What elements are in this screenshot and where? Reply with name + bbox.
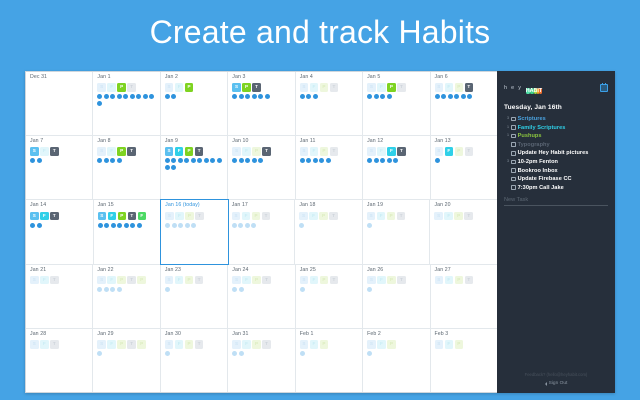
habit-badge-p[interactable]: P xyxy=(252,276,261,285)
calendar-day-cell[interactable]: Jan 31SFPT xyxy=(228,329,295,392)
calendar-week-row: Dec 31Jan 1SFPTJan 2SFPJan 3SPTJan 4SFPT… xyxy=(26,72,497,136)
task-dot xyxy=(110,158,115,163)
habit-badge-t[interactable]: T xyxy=(195,340,204,349)
task-label: 10-2pm Fenton xyxy=(518,159,558,165)
habit-badge-s[interactable]: S xyxy=(30,147,39,156)
habit-badge-s[interactable]: S xyxy=(367,212,376,221)
calendar-day-cell[interactable]: Jan 6SFPT xyxy=(431,72,497,135)
calendar-day-cell[interactable]: Jan 14SFT xyxy=(26,200,94,263)
habit-badge-p[interactable]: P xyxy=(252,147,261,156)
task-dot xyxy=(123,94,128,99)
task-row[interactable]: Typography xyxy=(504,142,608,148)
calendar-day-cell[interactable]: Feb 1SFP xyxy=(296,329,363,392)
habit-badge-s[interactable]: S xyxy=(165,212,174,221)
habit-badge-group: SFPT xyxy=(367,83,425,92)
task-dot xyxy=(374,158,379,163)
task-checkbox[interactable] xyxy=(511,134,516,139)
habit-badge-f[interactable]: F xyxy=(107,83,116,92)
calendar-day-cell[interactable]: Jan 1SFPT xyxy=(93,72,160,135)
task-row[interactable]: 1Pushups xyxy=(504,133,608,139)
calendar-day-cell[interactable]: Jan 17SFPT xyxy=(228,200,296,263)
sidebar-date-heading: Tuesday, Jan 16th xyxy=(504,104,608,111)
habit-badge-f[interactable]: F xyxy=(242,212,251,221)
task-dot xyxy=(374,94,379,99)
habit-badge-t[interactable]: T xyxy=(128,212,137,221)
habit-badge-t[interactable]: T xyxy=(252,83,261,92)
calendar-day-label: Jan 22 xyxy=(97,268,155,273)
habit-badge-t[interactable]: T xyxy=(329,212,338,221)
habit-badge-t[interactable]: T xyxy=(465,83,474,92)
calendar-day-cell[interactable]: Jan 16 (today)SFPT xyxy=(160,199,229,264)
task-label: Pushups xyxy=(518,133,542,139)
task-checkbox[interactable] xyxy=(511,151,516,156)
habit-badge-p[interactable]: P xyxy=(319,212,328,221)
habit-badge-group: SFPT xyxy=(300,276,358,285)
habit-badge-t[interactable]: T xyxy=(465,276,474,285)
task-dot xyxy=(171,165,176,170)
habit-badge-t[interactable]: T xyxy=(262,276,271,285)
habit-badge-s[interactable]: S xyxy=(97,147,106,156)
habit-badge-group: SFP xyxy=(165,83,223,92)
task-row[interactable]: 7:30pm Call Jake xyxy=(504,185,608,191)
habit-badge-p[interactable]: P xyxy=(185,83,194,92)
habit-badge-group: SFPTP xyxy=(97,276,155,285)
habit-badge-p[interactable]: P xyxy=(320,147,329,156)
habit-badge-f[interactable]: F xyxy=(445,340,454,349)
calendar-day-label: Dec 31 xyxy=(30,75,88,80)
task-dot xyxy=(124,223,129,228)
habit-badge-p[interactable]: P xyxy=(387,212,396,221)
habit-badge-f[interactable]: F xyxy=(175,340,184,349)
habit-badge-p[interactable]: P xyxy=(455,340,464,349)
habit-badge-f[interactable]: F xyxy=(175,147,184,156)
calendar-day-label: Jan 14 xyxy=(30,203,89,208)
sign-out-icon xyxy=(545,382,547,386)
calendar-day-label: Jan 19 xyxy=(367,203,426,208)
calendar-day-cell[interactable]: Jan 22SFPTP xyxy=(93,265,160,328)
habit-badge-p[interactable]: P xyxy=(252,340,261,349)
habit-badge-group: SFPT xyxy=(165,340,223,349)
habit-badge-s[interactable]: S xyxy=(232,147,241,156)
task-dot-group xyxy=(232,223,291,228)
habit-badge-s[interactable]: S xyxy=(98,212,107,221)
calendar-week-row: Jan 14SFTJan 15SFPTFJan 16 (today)SFPTJa… xyxy=(26,200,497,264)
calendar-day-cell[interactable]: Jan 25SFPT xyxy=(296,265,363,328)
habit-badge-t[interactable]: T xyxy=(262,147,271,156)
habit-badge-t[interactable]: T xyxy=(330,276,339,285)
calendar-day-cell[interactable]: Jan 26SFPT xyxy=(363,265,430,328)
calendar-day-label: Jan 12 xyxy=(367,139,425,144)
habit-calendar[interactable]: Dec 31Jan 1SFPTJan 2SFPJan 3SPTJan 4SFPT… xyxy=(25,71,497,393)
task-dot-group xyxy=(165,223,224,228)
habit-badge-f[interactable]: F xyxy=(40,340,49,349)
calendar-day-cell[interactable]: Jan 5SFPT xyxy=(363,72,430,135)
task-dot xyxy=(149,94,154,99)
habit-badge-t[interactable]: T xyxy=(50,340,59,349)
habit-badge-s[interactable]: S xyxy=(97,83,106,92)
habit-badge-t[interactable]: T xyxy=(465,147,474,156)
habit-badge-s[interactable]: S xyxy=(367,276,376,285)
calendar-day-cell[interactable]: Jan 18SFPT xyxy=(295,200,363,263)
calendar-day-cell[interactable]: Jan 2SFP xyxy=(161,72,228,135)
habit-badge-t[interactable]: T xyxy=(397,212,406,221)
task-dot xyxy=(197,158,202,163)
page-title: Create and track Habits xyxy=(0,0,640,48)
calendar-day-cell[interactable]: Jan 30SFPT xyxy=(161,329,228,392)
task-checkbox[interactable] xyxy=(511,177,516,182)
calendar-day-cell[interactable]: Jan 12SFFT xyxy=(363,136,430,199)
habit-badge-p[interactable]: P xyxy=(118,212,127,221)
habit-badge-group: SFFT xyxy=(367,147,425,156)
calendar-day-label: Feb 2 xyxy=(367,332,425,337)
habit-badge-t[interactable]: T xyxy=(330,83,339,92)
calendar-day-cell[interactable]: Jan 21SFT xyxy=(26,265,93,328)
habit-badge-p[interactable]: P xyxy=(117,147,126,156)
habit-badge-group: SFT xyxy=(30,276,88,285)
calendar-day-label: Jan 31 xyxy=(232,332,290,337)
sign-out-button[interactable]: Sign Out xyxy=(497,381,615,386)
habit-badge-t[interactable]: T xyxy=(397,147,406,156)
task-list: 3Scriptures1Family Scriptures1PushupsTyp… xyxy=(504,116,608,191)
habit-badge-group: SFT xyxy=(30,212,89,221)
habit-badge-p[interactable]: P xyxy=(185,276,194,285)
task-streak-count: 1 xyxy=(504,126,509,130)
habit-badge-f[interactable]: F xyxy=(377,212,386,221)
habit-badge-group: SFPT xyxy=(97,83,155,92)
habit-badge-group: SFPTP xyxy=(97,340,155,349)
calendar-day-cell[interactable]: Jan 7SFT xyxy=(26,136,93,199)
task-dot xyxy=(380,94,385,99)
task-label: Bookroo Inbox xyxy=(518,168,558,174)
habit-badge-f[interactable]: F xyxy=(377,147,386,156)
habit-badge-f[interactable]: F xyxy=(377,340,386,349)
habit-badge-f[interactable]: F xyxy=(445,83,454,92)
habit-badge-p[interactable]: P xyxy=(185,212,194,221)
habit-badge-s[interactable]: S xyxy=(97,340,106,349)
task-dot-group xyxy=(97,351,155,356)
calendar-day-cell[interactable]: Jan 27SFPT xyxy=(431,265,497,328)
habit-badge-s[interactable]: S xyxy=(97,276,106,285)
habit-badge-t[interactable]: T xyxy=(127,147,136,156)
calendar-day-cell[interactable]: Dec 31 xyxy=(26,72,93,135)
habit-badge-group: SFPT xyxy=(165,276,223,285)
habit-badge-f[interactable]: F xyxy=(108,212,117,221)
habit-badge-f[interactable]: F xyxy=(107,340,116,349)
habit-badge-p[interactable]: P xyxy=(242,83,251,92)
habit-badge-s[interactable]: S xyxy=(232,83,241,92)
habit-badge-t[interactable]: T xyxy=(50,147,59,156)
task-dot xyxy=(117,94,122,99)
calendar-week-row: Jan 21SFTJan 22SFPTPJan 23SFPTJan 24SFPT… xyxy=(26,265,497,329)
habit-badge-f[interactable]: F xyxy=(377,83,386,92)
habit-badge-s[interactable]: S xyxy=(300,147,309,156)
calendar-day-label: Jan 8 xyxy=(97,139,155,144)
feedback-link[interactable]: Feedback? (hello@heyhabit.com) xyxy=(497,372,615,377)
habit-badge-t[interactable]: T xyxy=(50,212,59,221)
habit-badge-f[interactable]: F xyxy=(310,276,319,285)
task-dot xyxy=(165,287,170,292)
task-dot-group xyxy=(367,223,426,228)
calendar-day-label: Jan 1 xyxy=(97,75,155,80)
calendar-day-cell[interactable]: Feb 2SFP xyxy=(363,329,430,392)
task-row[interactable]: 3Scriptures xyxy=(504,116,608,122)
calendar-day-label: Feb 1 xyxy=(300,332,358,337)
habit-badge-t[interactable]: T xyxy=(50,276,59,285)
task-checkbox[interactable] xyxy=(511,142,516,147)
calendar-day-cell[interactable]: Jan 20SFPT xyxy=(430,200,497,263)
habit-badge-f[interactable]: F xyxy=(445,276,454,285)
app-logo: h e y HABIT xyxy=(504,79,542,97)
habit-badge-f[interactable]: F xyxy=(175,276,184,285)
task-dot-group xyxy=(435,158,493,163)
habit-badge-f[interactable]: F xyxy=(40,212,49,221)
task-dot xyxy=(367,287,372,292)
habit-badge-s[interactable]: S xyxy=(165,276,174,285)
task-dot xyxy=(143,94,148,99)
task-streak-count: 3 xyxy=(504,117,509,121)
task-checkbox[interactable] xyxy=(511,125,516,130)
task-dot xyxy=(387,158,392,163)
habit-badge-p[interactable]: P xyxy=(137,340,146,349)
task-dot xyxy=(300,158,305,163)
calendar-day-label: Jan 17 xyxy=(232,203,291,208)
habit-badge-f[interactable]: F xyxy=(107,147,116,156)
habit-badge-t[interactable]: T xyxy=(464,212,473,221)
task-dot xyxy=(104,94,109,99)
habit-badge-t[interactable]: T xyxy=(195,212,204,221)
calendar-day-label: Jan 3 xyxy=(232,75,290,80)
habit-badge-s[interactable]: S xyxy=(165,83,174,92)
task-dot xyxy=(110,94,115,99)
calendar-day-cell[interactable]: Jan 13SFPT xyxy=(431,136,497,199)
habit-badge-f[interactable]: F xyxy=(310,340,319,349)
habit-badge-p[interactable]: P xyxy=(185,147,194,156)
calendar-day-cell[interactable]: Jan 4SFPT xyxy=(296,72,363,135)
calendar-day-cell[interactable]: Jan 19SFPT xyxy=(363,200,431,263)
habit-badge-group: SFPT xyxy=(165,212,224,221)
task-dot xyxy=(367,158,372,163)
habit-badge-t[interactable]: T xyxy=(262,212,271,221)
habit-badge-f[interactable]: F xyxy=(444,212,453,221)
task-dot xyxy=(245,223,250,228)
page-root: Create and track Habits Dec 31Jan 1SFPTJ… xyxy=(0,0,640,400)
habit-badge-p[interactable]: P xyxy=(387,276,396,285)
habit-badge-p[interactable]: P xyxy=(117,276,126,285)
habit-badge-p[interactable]: P xyxy=(454,212,463,221)
task-dot xyxy=(97,94,102,99)
habit-badge-f[interactable]: F xyxy=(175,212,184,221)
task-dot-group xyxy=(299,223,358,228)
habit-badge-t[interactable]: T xyxy=(195,276,204,285)
task-dot xyxy=(97,287,102,292)
calendar-day-label: Jan 18 xyxy=(299,203,358,208)
task-checkbox[interactable] xyxy=(511,117,516,122)
task-dot xyxy=(232,158,237,163)
habit-badge-p[interactable]: P xyxy=(455,147,464,156)
habit-badge-group: SFPT xyxy=(232,212,291,221)
task-checkbox[interactable] xyxy=(511,168,516,173)
task-dot xyxy=(448,94,453,99)
habit-badge-group: SFP xyxy=(367,340,425,349)
calendar-day-cell[interactable]: Jan 8SFPT xyxy=(93,136,160,199)
calendar-day-label: Jan 28 xyxy=(30,332,88,337)
calendar-day-cell[interactable]: Jan 15SFPTF xyxy=(94,200,162,263)
habit-badge-p[interactable]: P xyxy=(387,340,396,349)
calendar-day-cell[interactable]: Jan 28SFT xyxy=(26,329,93,392)
task-checkbox[interactable] xyxy=(511,160,516,165)
habit-badge-s[interactable]: S xyxy=(232,276,241,285)
calendar-day-cell[interactable]: Feb 3SFP xyxy=(431,329,497,392)
task-row[interactable]: 1Family Scriptures xyxy=(504,125,608,131)
sidebar-footer: Feedback? (hello@heyhabit.com) Sign Out xyxy=(497,372,615,386)
calendar-day-label: Jan 29 xyxy=(97,332,155,337)
task-dot xyxy=(239,287,244,292)
logo-prefix: h e y xyxy=(504,85,522,91)
habit-badge-s[interactable]: S xyxy=(30,212,39,221)
habit-badge-f[interactable]: F xyxy=(445,147,454,156)
habit-badge-p[interactable]: P xyxy=(320,276,329,285)
habit-badge-s[interactable]: S xyxy=(367,340,376,349)
habit-badge-p[interactable]: P xyxy=(252,212,261,221)
habit-badge-group: SFPT xyxy=(435,147,493,156)
habit-badge-s[interactable]: S xyxy=(232,212,241,221)
habit-badge-p[interactable]: P xyxy=(185,340,194,349)
habit-badge-group: SFPT xyxy=(232,340,290,349)
habit-badge-s[interactable]: S xyxy=(435,340,444,349)
habit-badge-f[interactable]: F xyxy=(387,147,396,156)
habit-badge-s[interactable]: S xyxy=(165,340,174,349)
task-dot xyxy=(238,223,243,228)
habit-badge-s[interactable]: S xyxy=(300,83,309,92)
habit-badge-group: SFPT xyxy=(435,83,493,92)
habit-badge-f[interactable]: F xyxy=(242,340,251,349)
task-dot xyxy=(326,158,331,163)
habit-badge-f[interactable]: F xyxy=(242,147,251,156)
calendar-day-label: Jan 2 xyxy=(165,75,223,80)
habit-badge-s[interactable]: S xyxy=(30,276,39,285)
habit-badge-t[interactable]: T xyxy=(397,83,406,92)
habit-badge-t[interactable]: T xyxy=(262,340,271,349)
habit-badge-t[interactable]: T xyxy=(195,147,204,156)
habit-badge-s[interactable]: S xyxy=(300,340,309,349)
calendar-day-cell[interactable]: Jan 24SFPT xyxy=(228,265,295,328)
habit-badge-group: SFPT xyxy=(299,212,358,221)
task-dot xyxy=(306,158,311,163)
habit-badge-f[interactable]: F xyxy=(377,276,386,285)
habit-badge-f[interactable]: F xyxy=(310,147,319,156)
task-dot-group xyxy=(98,223,157,228)
habit-badge-f[interactable]: F xyxy=(138,212,147,221)
task-checkbox[interactable] xyxy=(511,185,516,190)
habit-badge-s[interactable]: S xyxy=(435,83,444,92)
task-dot xyxy=(178,223,183,228)
task-dot xyxy=(367,223,372,228)
calendar-day-label: Jan 26 xyxy=(367,268,425,273)
task-row[interactable]: 310-2pm Fenton xyxy=(504,159,608,165)
habit-badge-f[interactable]: F xyxy=(40,147,49,156)
habit-badge-p[interactable]: P xyxy=(387,83,396,92)
habit-badge-p[interactable]: P xyxy=(117,83,126,92)
calendar-day-cell[interactable]: Jan 3SPT xyxy=(228,72,295,135)
task-row[interactable]: Update Firebase CC xyxy=(504,176,608,182)
task-dot xyxy=(171,158,176,163)
calendar-day-cell[interactable]: Jan 11SFPT xyxy=(296,136,363,199)
habit-badge-s[interactable]: S xyxy=(299,212,308,221)
new-task-input[interactable]: New Task xyxy=(504,197,608,207)
calendar-day-cell[interactable]: Jan 23SFPT xyxy=(161,265,228,328)
calendar-day-cell[interactable]: Jan 10SFPT xyxy=(228,136,295,199)
habit-badge-s[interactable]: S xyxy=(30,340,39,349)
calendar-day-label: Jan 4 xyxy=(300,75,358,80)
task-label: Typography xyxy=(518,142,550,148)
habit-badge-t[interactable]: T xyxy=(127,276,136,285)
habit-badge-group: SFT xyxy=(30,147,88,156)
task-dot-group xyxy=(165,351,223,356)
habit-badge-p[interactable]: P xyxy=(320,340,329,349)
task-dot-group xyxy=(97,287,155,292)
task-dot-group xyxy=(97,94,155,106)
habit-badge-t[interactable]: T xyxy=(330,147,339,156)
habit-badge-p[interactable]: P xyxy=(455,276,464,285)
habit-badge-f[interactable]: F xyxy=(309,212,318,221)
habit-badge-s[interactable]: S xyxy=(367,147,376,156)
habit-badge-s[interactable]: S xyxy=(300,276,309,285)
habit-badge-p[interactable]: P xyxy=(117,340,126,349)
habit-badge-s[interactable]: S xyxy=(435,276,444,285)
habit-badge-s[interactable]: S xyxy=(232,340,241,349)
habit-badge-t[interactable]: T xyxy=(127,340,136,349)
habit-badge-f[interactable]: F xyxy=(310,83,319,92)
habit-badge-p[interactable]: P xyxy=(455,83,464,92)
task-dot xyxy=(97,158,102,163)
calendar-week-row: Jan 7SFTJan 8SFPTJan 9SFPTJan 10SFPTJan … xyxy=(26,136,497,200)
task-dot-group xyxy=(97,158,155,163)
task-dot xyxy=(184,158,189,163)
habit-badge-t[interactable]: T xyxy=(397,276,406,285)
habit-badge-group: SFP xyxy=(435,340,493,349)
task-dot xyxy=(245,94,250,99)
task-dot xyxy=(467,94,472,99)
habit-badge-f[interactable]: F xyxy=(107,276,116,285)
task-label: Scriptures xyxy=(518,116,546,122)
calendar-day-cell[interactable]: Jan 29SFPTP xyxy=(93,329,160,392)
task-row[interactable]: Update Hey Habit pictures xyxy=(504,150,608,156)
habit-badge-f[interactable]: F xyxy=(175,83,184,92)
task-dot-group xyxy=(165,158,223,170)
habit-badge-s[interactable]: S xyxy=(435,147,444,156)
task-dot xyxy=(387,94,392,99)
habit-badge-s[interactable]: S xyxy=(367,83,376,92)
habit-badge-group: SFPT xyxy=(300,83,358,92)
calendar-day-label: Jan 11 xyxy=(300,139,358,144)
task-row[interactable]: Bookroo Inbox xyxy=(504,168,608,174)
habit-badge-p[interactable]: P xyxy=(320,83,329,92)
habit-badge-s[interactable]: S xyxy=(434,212,443,221)
calendar-icon[interactable] xyxy=(600,84,608,92)
task-dot xyxy=(380,158,385,163)
habit-badge-f[interactable]: F xyxy=(40,276,49,285)
task-dot xyxy=(239,351,244,356)
habit-badge-p[interactable]: P xyxy=(137,276,146,285)
task-dot xyxy=(441,94,446,99)
calendar-day-cell[interactable]: Jan 9SFPT xyxy=(161,136,228,199)
habit-badge-s[interactable]: S xyxy=(165,147,174,156)
task-dot xyxy=(185,223,190,228)
habit-badge-f[interactable]: F xyxy=(242,276,251,285)
calendar-day-label: Jan 27 xyxy=(435,268,493,273)
habit-badge-t[interactable]: T xyxy=(127,83,136,92)
sign-out-label: Sign Out xyxy=(549,381,568,386)
